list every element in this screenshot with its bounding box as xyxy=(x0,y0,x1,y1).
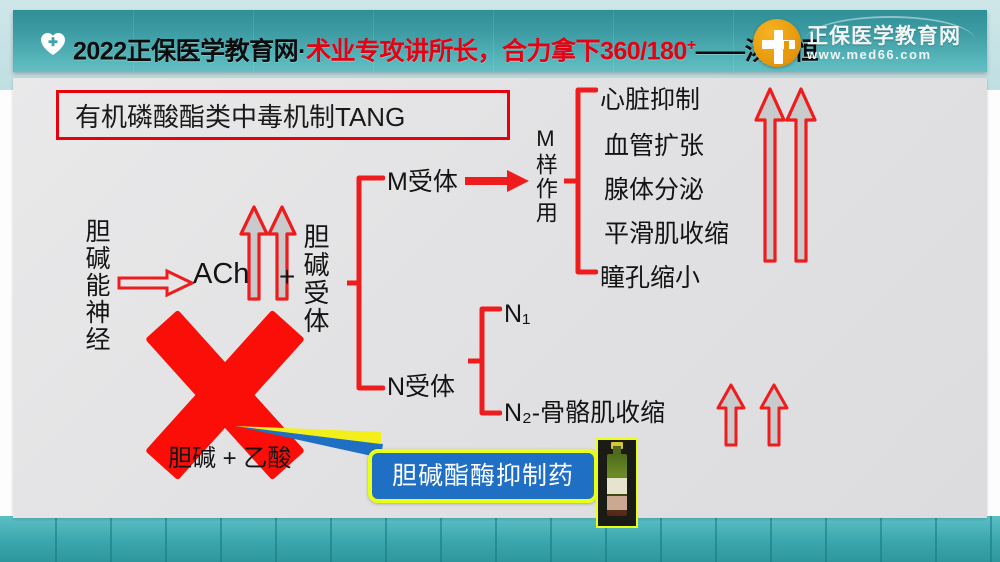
n-subtype-item-1: N₁ xyxy=(504,300,531,329)
up-arrow-effect-increase-2 xyxy=(784,86,818,264)
m-effect-item-1: 心脏抑制 xyxy=(600,80,700,116)
background-bottom-band xyxy=(0,516,1000,562)
m-effect-item-3: 腺体分泌 xyxy=(604,170,704,206)
page-title: 2022正保医学教育网·术业专攻讲所长，合力拿下360/180+——汤以恒 xyxy=(73,26,818,66)
bracket-m-effects xyxy=(564,86,598,276)
slide-header-bar: 2022正保医学教育网·术业专攻讲所长，合力拿下360/180+——汤以恒 正保… xyxy=(13,10,987,72)
site-logo: 正保医学教育网 www.med66.com xyxy=(749,14,979,70)
label-m-receptor: M受体 xyxy=(387,162,458,198)
up-arrow-n-effect-increase-2 xyxy=(758,382,790,448)
slide-canvas: 2022正保医学教育网·术业专攻讲所长，合力拿下360/180+——汤以恒 正保… xyxy=(0,0,1000,562)
m-effect-item-5: 瞳孔缩小 xyxy=(600,258,700,294)
n-subtype-item-2: N₂-骨骼肌收缩 xyxy=(504,393,665,429)
label-plus-sign: + xyxy=(279,261,295,293)
up-arrow-n-effect-increase-1 xyxy=(715,382,747,448)
logo-url: www.med66.com xyxy=(807,47,932,62)
diagram-title-box: 有机磷酸酯类中毒机制TANG xyxy=(56,90,510,140)
m-effect-item-2: 血管扩张 xyxy=(604,126,704,162)
bracket-n-subtypes xyxy=(468,305,502,417)
m-effect-item-4: 平滑肌收缩 xyxy=(604,214,729,250)
heart-plus-icon xyxy=(40,32,66,56)
label-m-type-effects: M样作用 xyxy=(533,126,556,225)
callout-label: 胆碱酯酶抑制药 xyxy=(372,453,594,499)
bracket-receptor-to-subtypes xyxy=(347,174,385,392)
arrow-nerve-to-ach xyxy=(117,268,195,298)
label-cholinergic-nerve: 胆碱能神经 xyxy=(83,218,109,353)
label-n-receptor: N受体 xyxy=(387,367,455,403)
orange-circle-cross-logo-icon xyxy=(753,19,801,67)
pesticide-bottle-image xyxy=(596,438,638,528)
logo-name: 正保医学教育网 xyxy=(807,20,961,50)
title-part-red: 术业专攻讲所长，合力拿下360/180 xyxy=(306,37,687,65)
up-arrow-effect-increase-1 xyxy=(753,86,787,264)
title-part-1: 2022正保医学教育网· xyxy=(73,37,306,65)
title-part-red-sup: + xyxy=(687,37,696,54)
diagram-title-text: 有机磷酸酯类中毒机制TANG xyxy=(75,97,405,134)
callout-cholinesterase-inhibitor[interactable]: 胆碱酯酶抑制药 xyxy=(368,449,598,503)
arrow-m-receptor-to-effects xyxy=(465,168,531,194)
